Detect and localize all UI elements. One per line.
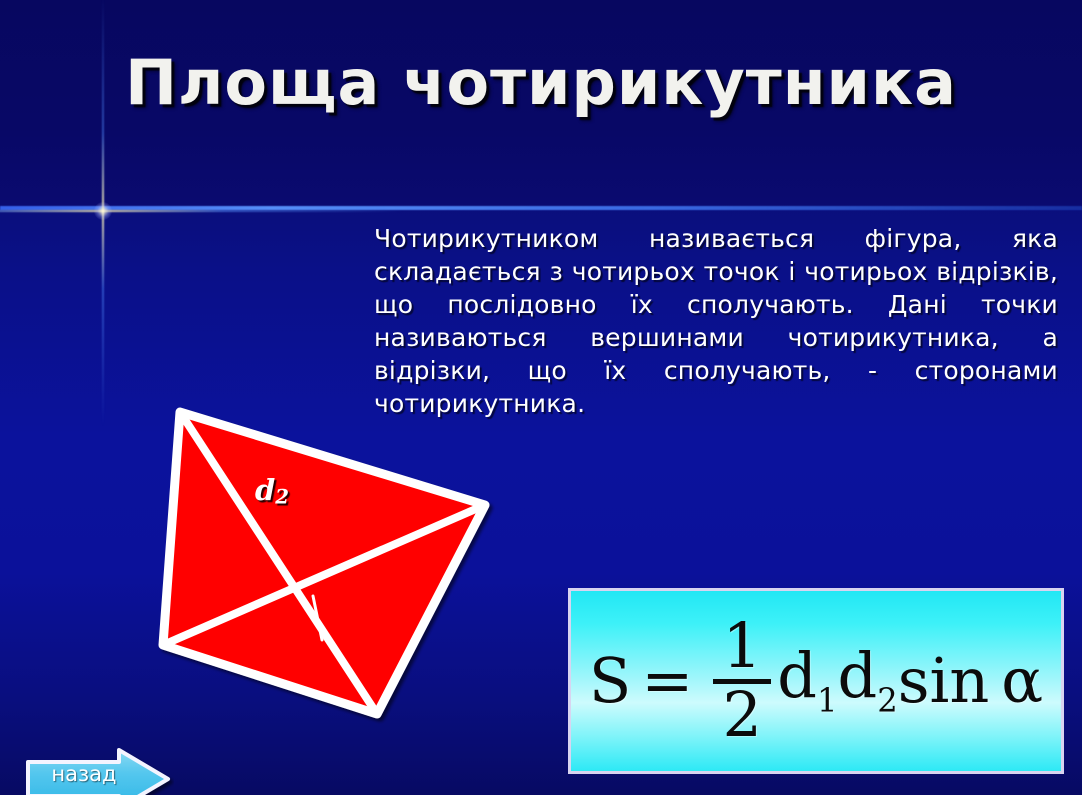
fraction-denominator: 2 xyxy=(719,685,766,746)
formula-box: S = 1 2 d1 d2 sin α xyxy=(568,588,1064,774)
page-title: Площа чотирикутника xyxy=(0,46,1082,119)
quadrilateral-svg xyxy=(140,385,540,740)
label-diagonal-d2: d2 xyxy=(255,473,289,509)
quadrilateral-figure: d2 d1 α xyxy=(140,385,540,740)
back-button[interactable]: назад xyxy=(24,748,174,795)
quad-shape-group xyxy=(163,412,485,714)
formula-d2: d2 xyxy=(837,645,897,717)
back-arrow-icon[interactable] xyxy=(24,748,174,795)
formula-lhs: S xyxy=(589,650,631,712)
slide-canvas: Площа чотирикутника Чотирикутником назив… xyxy=(0,0,1082,795)
formula-alpha: α xyxy=(1001,650,1043,712)
fraction-numerator: 1 xyxy=(719,616,766,677)
formula-fraction: 1 2 xyxy=(713,616,771,746)
formula-sin: sin xyxy=(898,650,990,712)
area-formula: S = 1 2 d1 d2 sin α xyxy=(589,616,1043,746)
formula-d1: d1 xyxy=(777,645,837,717)
formula-equals: = xyxy=(641,650,693,712)
title-band-divider xyxy=(0,206,1082,210)
